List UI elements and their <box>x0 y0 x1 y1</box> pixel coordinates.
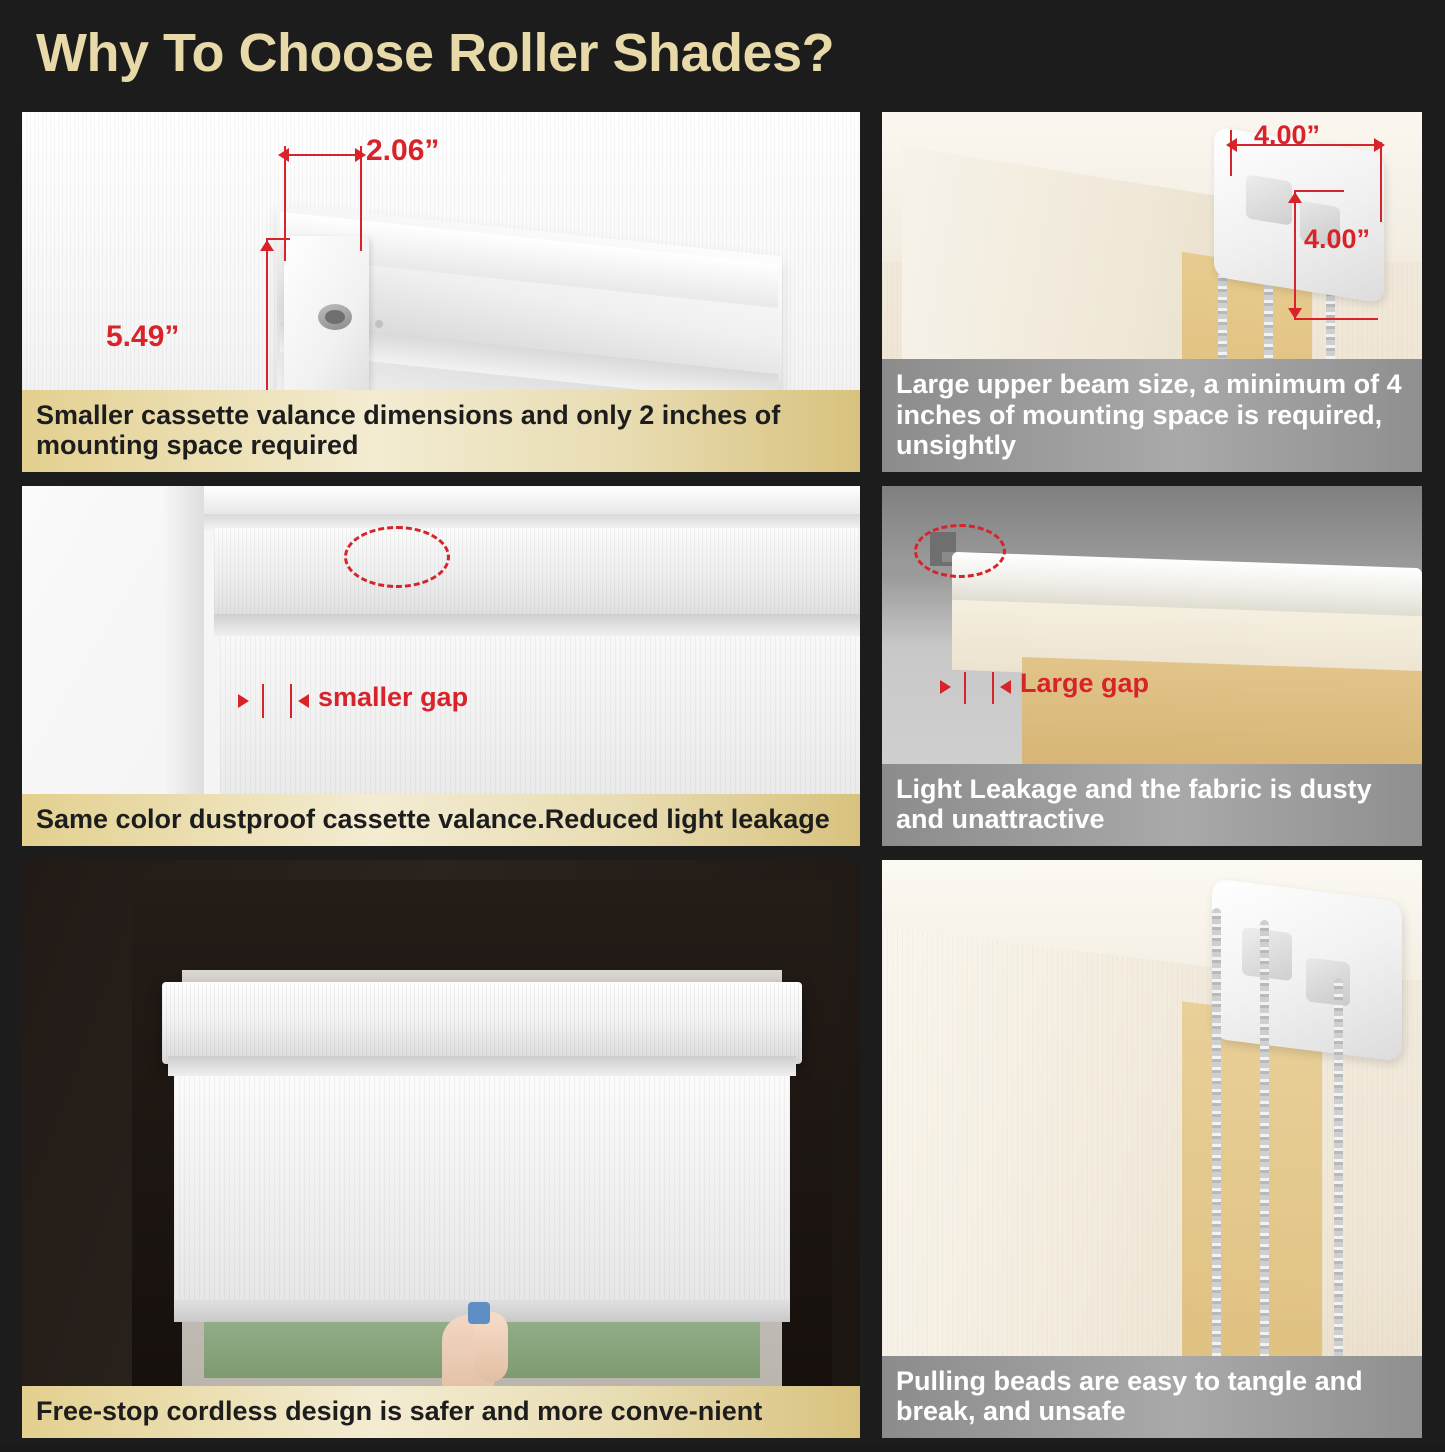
photo-cordless-design <box>22 860 860 1438</box>
infographic-page: Why To Choose Roller Shades? <box>0 0 1445 1445</box>
card-row-3: Free-stop cordless design is safer and m… <box>22 860 1422 1438</box>
caption-light-leakage: Light Leakage and the fabric is dusty an… <box>882 764 1422 846</box>
card-grid: 2.06” 5.49” Smaller cassette valance dim… <box>22 112 1422 1452</box>
card-cassette-valance-dimensions: 2.06” 5.49” Smaller cassette valance dim… <box>22 112 860 472</box>
caption-cordless-design: Free-stop cordless design is safer and m… <box>22 1386 860 1438</box>
card-dustproof-cassette: smaller gap Same color dustproof cassett… <box>22 486 860 846</box>
annotation-width-dimension: 2.06” <box>366 134 439 168</box>
annotation-beam-width: 4.00” <box>1254 120 1320 151</box>
card-pulling-beads: Pulling beads are easy to tangle and bre… <box>882 860 1422 1438</box>
annotation-height-dimension: 5.49” <box>106 320 179 354</box>
card-row-2: smaller gap Same color dustproof cassett… <box>22 486 1422 846</box>
card-cordless-design: Free-stop cordless design is safer and m… <box>22 860 860 1438</box>
annotation-smaller-gap: smaller gap <box>318 682 468 713</box>
annotation-beam-depth: 4.00” <box>1304 224 1370 255</box>
card-row-1: 2.06” 5.49” Smaller cassette valance dim… <box>22 112 1422 472</box>
caption-dustproof-cassette: Same color dustproof cassette valance.Re… <box>22 794 860 846</box>
page-title: Why To Choose Roller Shades? <box>36 22 834 84</box>
caption-pulling-beads: Pulling beads are easy to tangle and bre… <box>882 1356 1422 1438</box>
photo-dustproof-cassette: smaller gap <box>22 486 860 846</box>
caption-cassette-valance-dimensions: Smaller cassette valance dimensions and … <box>22 390 860 472</box>
caption-large-upper-beam: Large upper beam size, a minimum of 4 in… <box>882 359 1422 472</box>
card-large-upper-beam: 4.00” 4.00” Large upper beam size, a min… <box>882 112 1422 472</box>
annotation-large-gap: Large gap <box>1020 668 1149 699</box>
photo-pulling-beads <box>882 860 1422 1438</box>
card-light-leakage: Large gap Light Leakage and the fabric i… <box>882 486 1422 846</box>
